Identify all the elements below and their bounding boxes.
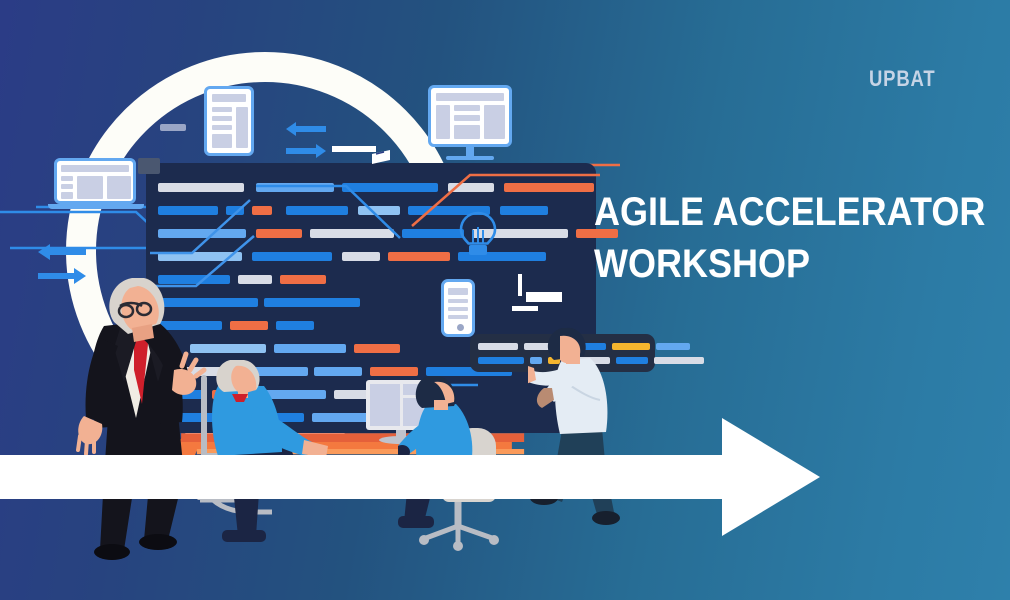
tablet-card <box>204 86 254 156</box>
phone-card <box>441 279 475 337</box>
poster-canvas: UPBAT AGILE ACCELERATOR WORKSHOP <box>0 0 1010 600</box>
router-icon <box>508 274 564 320</box>
page-title: AGILE ACCELERATOR WORKSHOP <box>594 186 994 290</box>
lightbulb-icon <box>458 210 498 262</box>
server-icon <box>332 144 392 170</box>
code-bar <box>478 357 524 364</box>
code-bar <box>656 343 690 350</box>
laptop-card <box>48 158 144 214</box>
swap-arrows-icon <box>282 118 334 170</box>
monitor-card <box>428 85 512 163</box>
headline-line-2: WORKSHOP <box>594 238 954 290</box>
small-bar-decor <box>160 124 186 131</box>
forward-arrow <box>0 418 820 536</box>
code-bar <box>478 343 518 350</box>
code-bar <box>654 357 704 364</box>
headline-line-1: AGILE ACCELERATOR <box>594 186 954 238</box>
brand-logo[interactable]: UPBAT <box>869 66 935 92</box>
